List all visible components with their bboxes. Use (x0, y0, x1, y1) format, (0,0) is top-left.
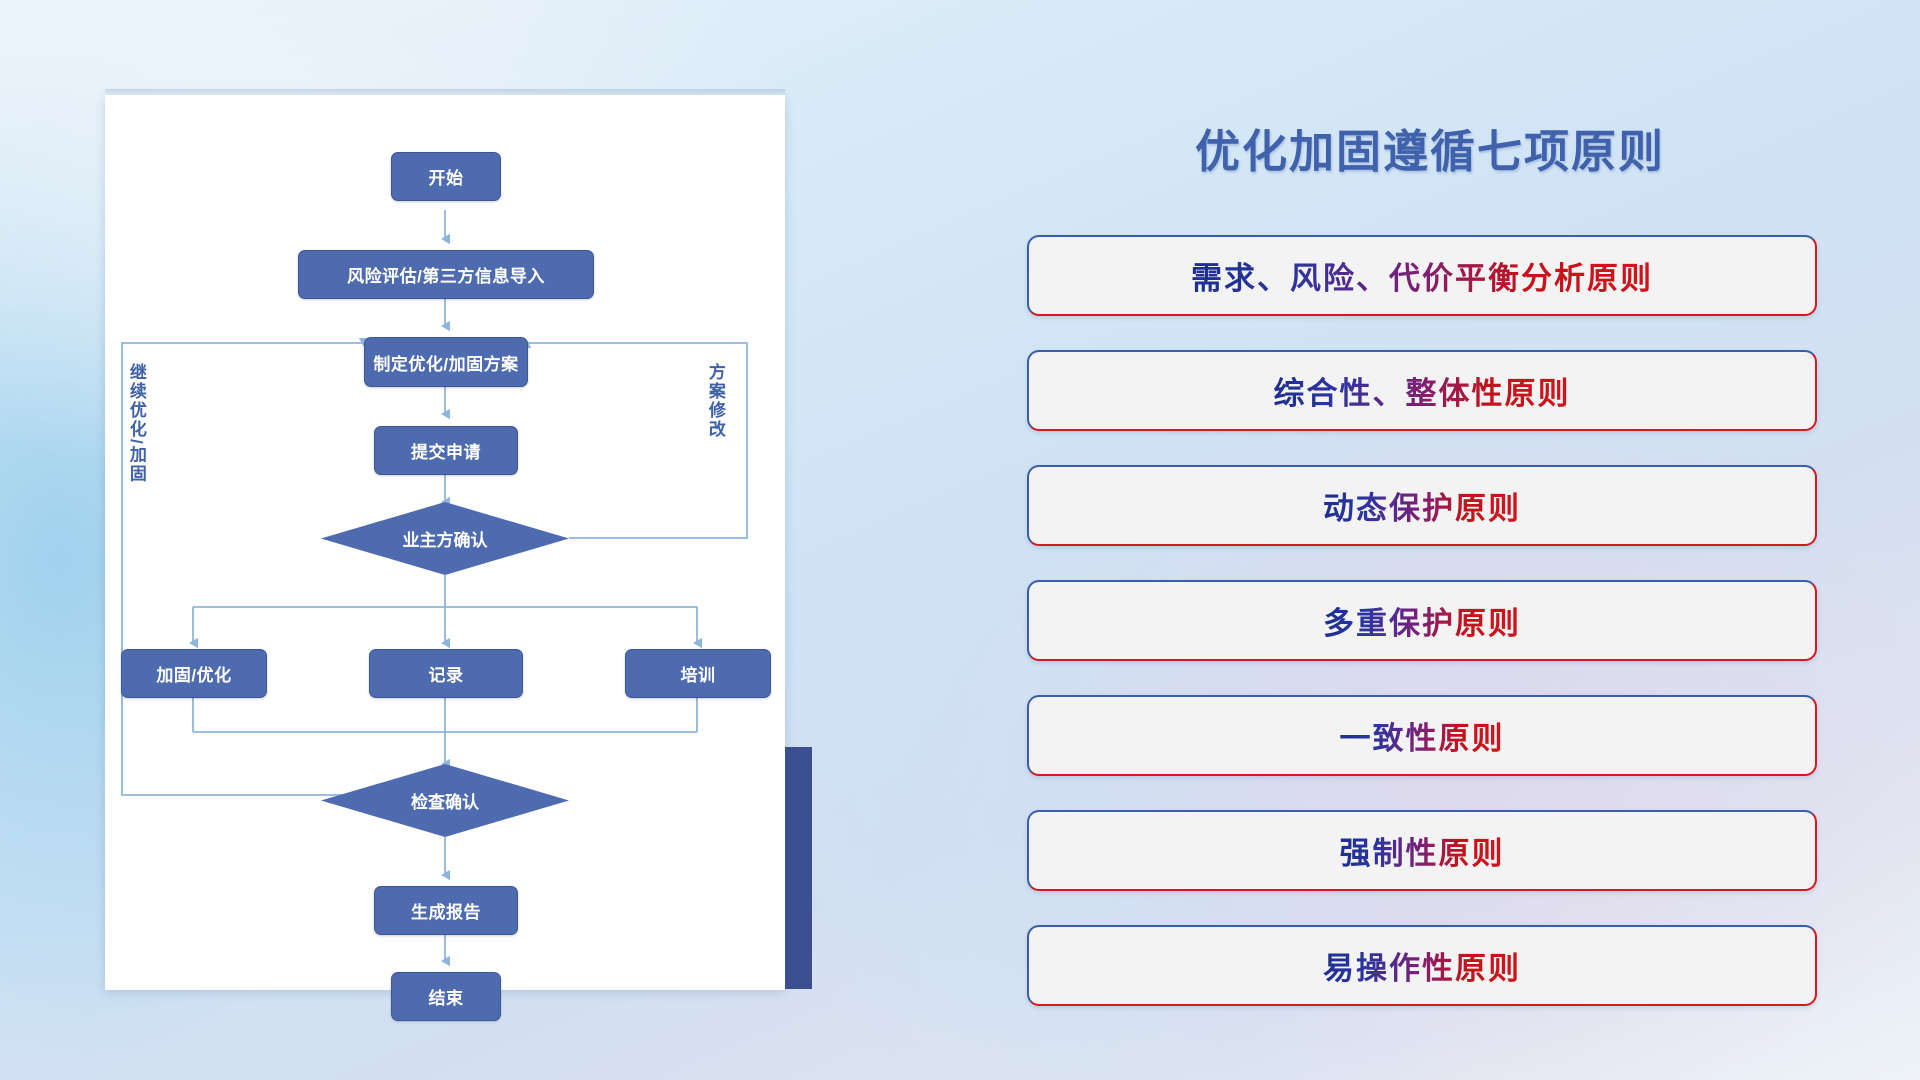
flow-node-check-confirm[interactable]: 检查确认 (321, 764, 569, 837)
principle-label: 综合性、整体性原则 (1274, 368, 1571, 413)
principle-card[interactable]: 多重保护原则 (1027, 580, 1817, 661)
flow-label-continue-optimize: 继续优化/加固 (127, 363, 145, 484)
flow-node-start[interactable]: 开始 (391, 152, 501, 201)
principle-card[interactable]: 动态保护原则 (1027, 465, 1817, 546)
principle-card[interactable]: 强制性原则 (1027, 810, 1817, 891)
principle-card[interactable]: 综合性、整体性原则 (1027, 350, 1817, 431)
principles-panel-title: 优化加固遵循七项原则 (1020, 115, 1840, 180)
principle-label: 需求、风险、代价平衡分析原则 (1191, 253, 1653, 298)
flow-node-reinforce-optimize[interactable]: 加固/优化 (121, 649, 267, 698)
principle-card[interactable]: 需求、风险、代价平衡分析原则 (1027, 235, 1817, 316)
flow-node-owner-confirm[interactable]: 业主方确认 (321, 502, 569, 575)
principles-list: 需求、风险、代价平衡分析原则 综合性、整体性原则 动态保护原则 多重保护原则 一… (1027, 235, 1817, 1040)
principle-card[interactable]: 一致性原则 (1027, 695, 1817, 776)
flow-node-owner-confirm-label: 业主方确认 (403, 526, 488, 551)
flow-label-plan-revision: 方案修改 (706, 363, 724, 439)
flow-node-submit-application[interactable]: 提交申请 (374, 426, 518, 475)
principle-label: 易操作性原则 (1323, 943, 1521, 988)
principle-label: 动态保护原则 (1323, 483, 1521, 528)
principles-panel: 优化加固遵循七项原则 需求、风险、代价平衡分析原则 综合性、整体性原则 动态保护… (1020, 95, 1840, 1015)
flow-node-risk-assessment[interactable]: 风险评估/第三方信息导入 (298, 250, 594, 299)
flow-node-check-confirm-label: 检查确认 (411, 788, 479, 813)
principle-label: 一致性原则 (1340, 713, 1505, 758)
flow-node-record[interactable]: 记录 (369, 649, 523, 698)
principle-label: 多重保护原则 (1323, 598, 1521, 643)
flow-node-end[interactable]: 结束 (391, 972, 501, 1021)
principle-label: 强制性原则 (1340, 828, 1505, 873)
flow-node-make-plan[interactable]: 制定优化/加固方案 (364, 337, 528, 387)
flow-node-generate-report[interactable]: 生成报告 (374, 886, 518, 935)
flowchart-card: 继续优化/加固 方案修改 开始 风险评估/第三方信息导入 制定优化/加固方案 提… (105, 95, 785, 990)
slide-canvas: 继续优化/加固 方案修改 开始 风险评估/第三方信息导入 制定优化/加固方案 提… (0, 0, 1920, 1080)
principle-card[interactable]: 易操作性原则 (1027, 925, 1817, 1006)
flow-node-training[interactable]: 培训 (625, 649, 771, 698)
